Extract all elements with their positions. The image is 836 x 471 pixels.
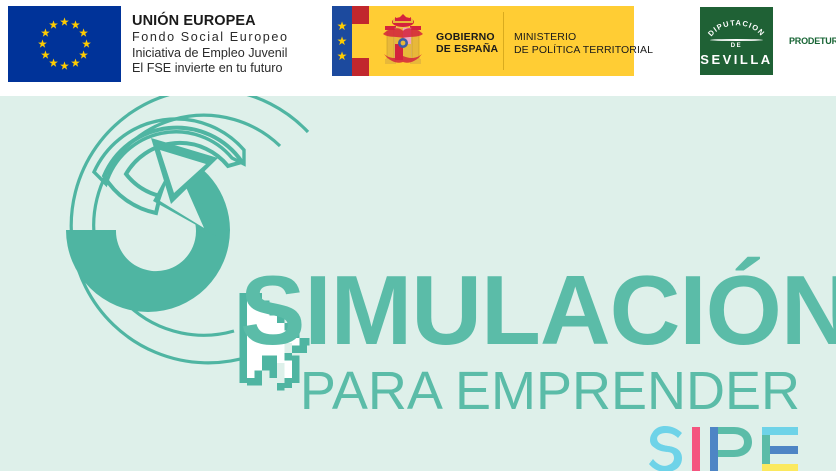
eu-line-iniciativa: Iniciativa de Empleo Juvenil <box>132 46 312 62</box>
gobierno-caption: GOBIERNO DE ESPAÑA <box>436 31 498 55</box>
diputacion-de-sevilla-logo: DIPUTACION DE SEVILLA <box>700 7 773 75</box>
eu-caption-block: UNIÓN EUROPEA Fondo Social Europeo Inici… <box>132 13 312 77</box>
gobierno-line-2: DE ESPAÑA <box>436 43 498 55</box>
spain-coat-of-arms-icon <box>380 14 426 70</box>
poster-page: UNIÓN EUROPEA Fondo Social Europeo Inici… <box>0 0 836 471</box>
ministerio-line-2: DE POLÍTICA TERRITORIAL <box>514 44 653 57</box>
diputacion-underline <box>710 39 763 41</box>
sipe-letter-e <box>762 427 798 471</box>
spain-logo-divider <box>503 12 504 70</box>
diputacion-de-label: DE <box>700 43 773 49</box>
page-subtitle: PARA EMPRENDER <box>240 364 800 418</box>
sipe-wordmark <box>648 422 800 471</box>
sipe-letter-i <box>692 427 700 471</box>
spain-star-icon-3: ★ <box>336 50 348 62</box>
gobierno-line-1: GOBIERNO <box>436 31 498 43</box>
poster-main-panel: SIMULACIÓN PARA EMPRENDER <box>0 96 836 471</box>
ministerio-caption: MINISTERIO DE POLÍTICA TERRITORIAL <box>514 31 653 56</box>
eu-line-fondo-social: Fondo Social Europeo <box>132 30 312 46</box>
diputacion-sevilla-label: SEVILLA <box>700 52 773 67</box>
page-title: SIMULACIÓN <box>240 261 800 359</box>
european-union-logo: UNIÓN EUROPEA Fondo Social Europeo Inici… <box>8 6 121 82</box>
spain-star-icon-2: ★ <box>336 35 348 47</box>
spain-flag-red-bottom <box>352 58 369 76</box>
ministerio-line-1: MINISTERIO <box>514 31 653 44</box>
gobierno-de-espana-logo: ★ ★ ★ <box>332 6 634 76</box>
prodetur-label: PRODETUR <box>789 36 836 46</box>
spain-flag-icon: ★ ★ ★ <box>332 6 369 76</box>
eu-line-invierte: El FSE invierte en tu futuro <box>132 61 312 77</box>
svg-text:DIPUTACION: DIPUTACION <box>706 18 767 38</box>
diputacion-arc-label: DIPUTACION <box>706 18 767 38</box>
eu-stars-circle-icon <box>8 6 121 82</box>
sipe-letter-p <box>710 427 752 471</box>
eu-title: UNIÓN EUROPEA <box>132 13 312 30</box>
spain-star-icon-1: ★ <box>336 20 348 32</box>
sipe-letter-s <box>649 426 682 471</box>
institutional-logo-bar: UNIÓN EUROPEA Fondo Social Europeo Inici… <box>0 0 836 96</box>
spain-flag-red-top <box>352 6 369 24</box>
eu-flag-icon <box>8 6 121 82</box>
